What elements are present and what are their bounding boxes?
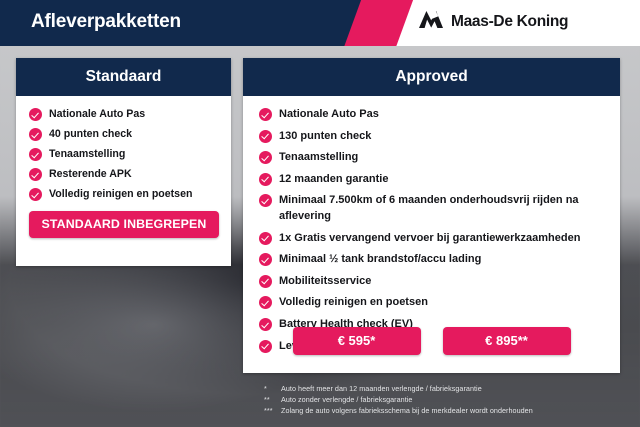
list-item: Resterende APK	[29, 167, 221, 182]
standaard-feature-list: Nationale Auto Pas 40 punten check Tenaa…	[16, 107, 231, 202]
page-title: Afleverpakketten	[31, 11, 181, 33]
price-button-row: € 595* € 895**	[243, 327, 620, 355]
footnote-marker: **	[264, 394, 281, 405]
footnote-text: Auto heeft meer dan 12 maanden verlengde…	[281, 383, 624, 394]
check-circle-icon	[29, 168, 42, 181]
list-item: Nationale Auto Pas	[29, 107, 221, 122]
check-circle-icon	[29, 108, 42, 121]
check-circle-icon	[259, 275, 272, 288]
approved-feature-list: Nationale Auto Pas 130 punten check Tena…	[243, 107, 620, 354]
check-circle-icon	[29, 188, 42, 201]
card-approved-title: Approved	[243, 58, 620, 96]
check-circle-icon	[259, 296, 272, 309]
check-circle-icon	[259, 173, 272, 186]
footnote-marker: ***	[264, 405, 281, 416]
card-approved: Approved Nationale Auto Pas 130 punten c…	[243, 58, 620, 373]
price-button-895[interactable]: € 895**	[443, 327, 571, 355]
check-circle-icon	[259, 253, 272, 266]
feature-label: Resterende APK	[49, 167, 221, 182]
brand-lockup: Maas-De Koning	[418, 10, 568, 34]
brand-name: Maas-De Koning	[451, 13, 568, 31]
footnotes: * Auto heeft meer dan 12 maanden verleng…	[264, 383, 624, 416]
check-circle-icon	[259, 130, 272, 143]
list-item: Nationale Auto Pas	[259, 107, 608, 123]
footnote-marker: *	[264, 383, 281, 394]
feature-label: Minimaal 7.500km of 6 maanden onderhouds…	[279, 193, 608, 224]
feature-label: Nationale Auto Pas	[279, 107, 608, 123]
footnote-item: * Auto heeft meer dan 12 maanden verleng…	[264, 383, 624, 394]
list-item: Tenaamstelling	[29, 147, 221, 162]
standaard-inbegrepen-button[interactable]: STANDAARD INBEGREPEN	[29, 211, 219, 238]
check-circle-icon	[29, 148, 42, 161]
footnote-text: Zolang de auto volgens fabrieksschema bi…	[281, 405, 624, 416]
list-item: Volledig reinigen en poetsen	[29, 187, 221, 202]
feature-label: Volledig reinigen en poetsen	[49, 187, 221, 202]
check-circle-icon	[259, 108, 272, 121]
list-item: 130 punten check	[259, 129, 608, 145]
maas-de-koning-m-logo-icon	[418, 10, 444, 34]
card-approved-body: Nationale Auto Pas 130 punten check Tena…	[243, 96, 620, 354]
footnote-item: *** Zolang de auto volgens fabrieksschem…	[264, 405, 624, 416]
list-item: 12 maanden garantie	[259, 172, 608, 188]
list-item: Minimaal 7.500km of 6 maanden onderhouds…	[259, 193, 608, 224]
footnote-text: Auto zonder verlengde / fabrieksgarantie	[281, 394, 624, 405]
card-standaard: Standaard Nationale Auto Pas 40 punten c…	[16, 58, 231, 266]
list-item: 40 punten check	[29, 127, 221, 142]
feature-label: 1x Gratis vervangend vervoer bij garanti…	[279, 231, 608, 247]
top-banner: Afleverpakketten Maas-De Koning	[0, 0, 640, 46]
feature-label: Tenaamstelling	[49, 147, 221, 162]
list-item: Tenaamstelling	[259, 150, 608, 166]
list-item: Minimaal ½ tank brandstof/accu lading	[259, 252, 608, 268]
feature-label: Mobiliteitsservice	[279, 274, 608, 290]
feature-label: Nationale Auto Pas	[49, 107, 221, 122]
feature-label: Tenaamstelling	[279, 150, 608, 166]
feature-label: 12 maanden garantie	[279, 172, 608, 188]
check-circle-icon	[29, 128, 42, 141]
feature-label: Minimaal ½ tank brandstof/accu lading	[279, 252, 608, 268]
footnote-item: ** Auto zonder verlengde / fabrieksgaran…	[264, 394, 624, 405]
slide-root: Afleverpakketten Maas-De Koning Standaar…	[0, 0, 640, 427]
feature-label: 130 punten check	[279, 129, 608, 145]
check-circle-icon	[259, 232, 272, 245]
list-item: Volledig reinigen en poetsen	[259, 295, 608, 311]
feature-label: Volledig reinigen en poetsen	[279, 295, 608, 311]
check-circle-icon	[259, 151, 272, 164]
feature-label: 40 punten check	[49, 127, 221, 142]
list-item: 1x Gratis vervangend vervoer bij garanti…	[259, 231, 608, 247]
card-standaard-title: Standaard	[16, 58, 231, 96]
list-item: Mobiliteitsservice	[259, 274, 608, 290]
price-button-595[interactable]: € 595*	[293, 327, 421, 355]
check-circle-icon	[259, 194, 272, 207]
card-standaard-body: Nationale Auto Pas 40 punten check Tenaa…	[16, 96, 231, 202]
